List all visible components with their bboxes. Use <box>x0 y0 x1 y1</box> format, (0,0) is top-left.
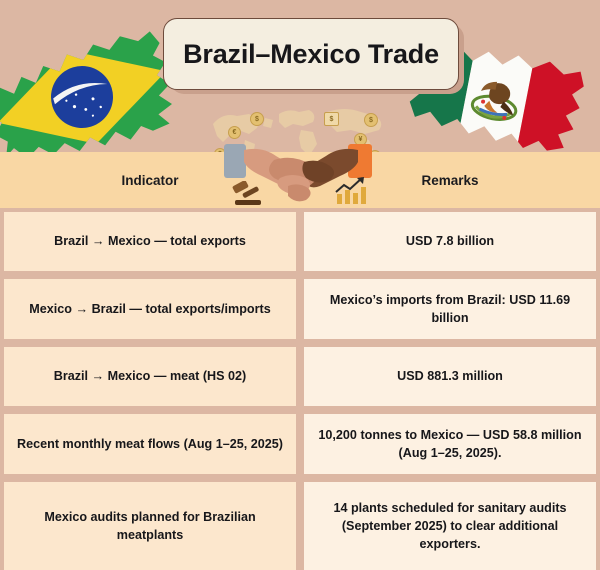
table-cell-indicator: Mexico → Brazil — total exports/imports <box>4 279 296 339</box>
table-row: Brazil → Mexico — meat (HS 02) USD 881.3… <box>0 343 600 410</box>
table-row: Brazil → Mexico — total exports USD 7.8 … <box>0 208 600 275</box>
table-cell-indicator: Recent monthly meat flows (Aug 1–25, 202… <box>4 414 296 474</box>
coin-icon: € <box>228 126 241 139</box>
table-row: Recent monthly meat flows (Aug 1–25, 202… <box>0 410 600 478</box>
table-cell-indicator: Mexico audits planned for Brazilian meat… <box>4 482 296 570</box>
table-cell-remarks: Mexico’s imports from Brazil: USD 11.69 … <box>304 279 596 339</box>
table-cell-remarks: USD 7.8 billion <box>304 212 596 271</box>
table-cell-text: 14 plants scheduled for sanitary audits … <box>316 499 584 554</box>
table-cell-text: 10,200 tonnes to Mexico — USD 58.8 milli… <box>316 426 584 463</box>
table-cell-text: Brazil → Mexico — total exports <box>54 232 246 250</box>
table-cell-text: Mexico → Brazil — total exports/imports <box>29 300 270 318</box>
table-cell-indicator: Brazil → Mexico — meat (HS 02) <box>4 347 296 406</box>
package-icon: $ <box>324 112 339 126</box>
table-cell-text: Mexico’s imports from Brazil: USD 11.69 … <box>316 291 584 328</box>
table-cell-text: USD 7.8 billion <box>406 232 494 250</box>
infographic-root: $ $ $ € ¥ £ $ <box>0 0 600 570</box>
table-cell-text: USD 881.3 million <box>397 367 503 385</box>
bar-chart-icon <box>334 176 370 206</box>
coin-icon: $ <box>250 112 264 126</box>
hero-band: $ $ $ € ¥ £ $ <box>0 0 600 152</box>
table-cell-text: Brazil → Mexico — meat (HS 02) <box>54 367 246 385</box>
table-cell-remarks: USD 881.3 million <box>304 347 596 406</box>
table-cell-remarks: 14 plants scheduled for sanitary audits … <box>304 482 596 570</box>
page-title: Brazil–Mexico Trade <box>183 39 439 70</box>
title-banner: Brazil–Mexico Trade <box>163 18 459 90</box>
trade-table: Brazil → Mexico — total exports USD 7.8 … <box>0 208 600 570</box>
table-cell-indicator: Brazil → Mexico — total exports <box>4 212 296 271</box>
coin-icon: $ <box>364 113 378 127</box>
column-header-remarks-label: Remarks <box>421 173 478 188</box>
column-header-indicator-label: Indicator <box>121 173 178 188</box>
table-row: Mexico → Brazil — total exports/imports … <box>0 275 600 343</box>
table-cell-text: Recent monthly meat flows (Aug 1–25, 202… <box>17 435 283 453</box>
gavel-icon <box>231 181 265 207</box>
table-row: Mexico audits planned for Brazilian meat… <box>0 478 600 570</box>
table-cell-text: Mexico audits planned for Brazilian meat… <box>16 508 284 545</box>
table-cell-remarks: 10,200 tonnes to Mexico — USD 58.8 milli… <box>304 414 596 474</box>
